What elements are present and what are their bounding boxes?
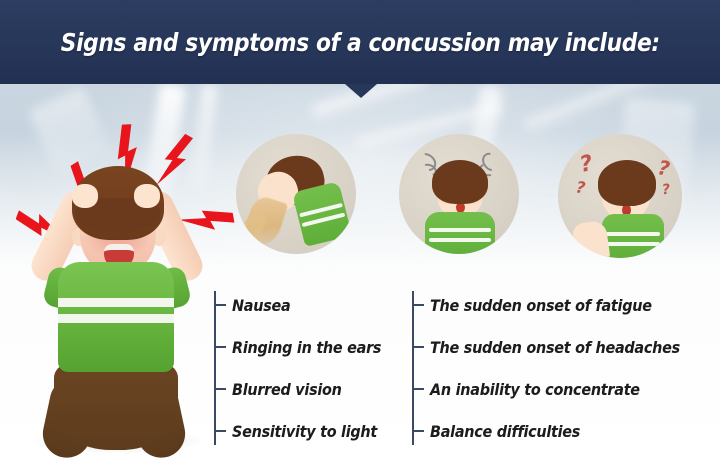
question-mark-icon: ? bbox=[578, 151, 596, 178]
symptom-item: Ringing in the ears bbox=[228, 326, 398, 368]
concussion-infographic: Signs and symptoms of a concussion may i… bbox=[0, 0, 720, 463]
symptom-label: Blurred vision bbox=[232, 380, 342, 399]
symptom-label: The sudden onset of fatigue bbox=[430, 296, 652, 315]
question-mark-icon: ? bbox=[661, 182, 671, 199]
symptom-label: The sudden onset of headaches bbox=[430, 338, 680, 357]
hand-shape bbox=[72, 184, 98, 208]
symptom-label: Sensitivity to light bbox=[232, 422, 377, 441]
hair-shape bbox=[432, 160, 488, 204]
symptom-label: An inability to concentrate bbox=[430, 380, 640, 399]
symptom-item: An inability to concentrate bbox=[426, 368, 708, 410]
page-title: Signs and symptoms of a concussion may i… bbox=[60, 28, 659, 57]
question-mark-icon: ? bbox=[575, 177, 587, 197]
pants-shape bbox=[54, 364, 178, 450]
symptom-circle-nausea bbox=[236, 134, 356, 254]
symptom-item: The sudden onset of headaches bbox=[426, 326, 708, 368]
banner-notch-icon bbox=[345, 84, 377, 98]
hair-shape bbox=[598, 160, 656, 206]
symptom-item: Balance difficulties bbox=[426, 410, 708, 452]
symptom-circle-dizziness bbox=[399, 134, 519, 254]
question-mark-icon: ? bbox=[656, 155, 672, 181]
symptom-list-left: Nausea Ringing in the ears Blurred visio… bbox=[214, 284, 398, 452]
bracket-left bbox=[214, 284, 228, 452]
shirt-stripe bbox=[58, 314, 174, 323]
hand-shape bbox=[134, 184, 160, 208]
symptom-list-right: The sudden onset of fatigue The sudden o… bbox=[412, 284, 708, 452]
shirt-shape bbox=[425, 212, 495, 254]
main-figure-boy-in-pain bbox=[10, 112, 220, 442]
symptom-circle-confusion: ? ? ? ? bbox=[558, 134, 682, 258]
symptom-label: Balance difficulties bbox=[430, 422, 580, 441]
symptom-item: Nausea bbox=[228, 284, 398, 326]
header-banner: Signs and symptoms of a concussion may i… bbox=[0, 0, 720, 84]
bracket-right bbox=[412, 284, 426, 452]
symptom-label: Nausea bbox=[232, 296, 290, 315]
symptom-item: Blurred vision bbox=[228, 368, 398, 410]
symptom-item: The sudden onset of fatigue bbox=[426, 284, 708, 326]
symptom-item: Sensitivity to light bbox=[228, 410, 398, 452]
symptom-label: Ringing in the ears bbox=[232, 338, 381, 357]
shirt-stripe bbox=[58, 298, 174, 307]
shirt-shape bbox=[602, 214, 664, 258]
shirt-shape bbox=[292, 181, 352, 247]
